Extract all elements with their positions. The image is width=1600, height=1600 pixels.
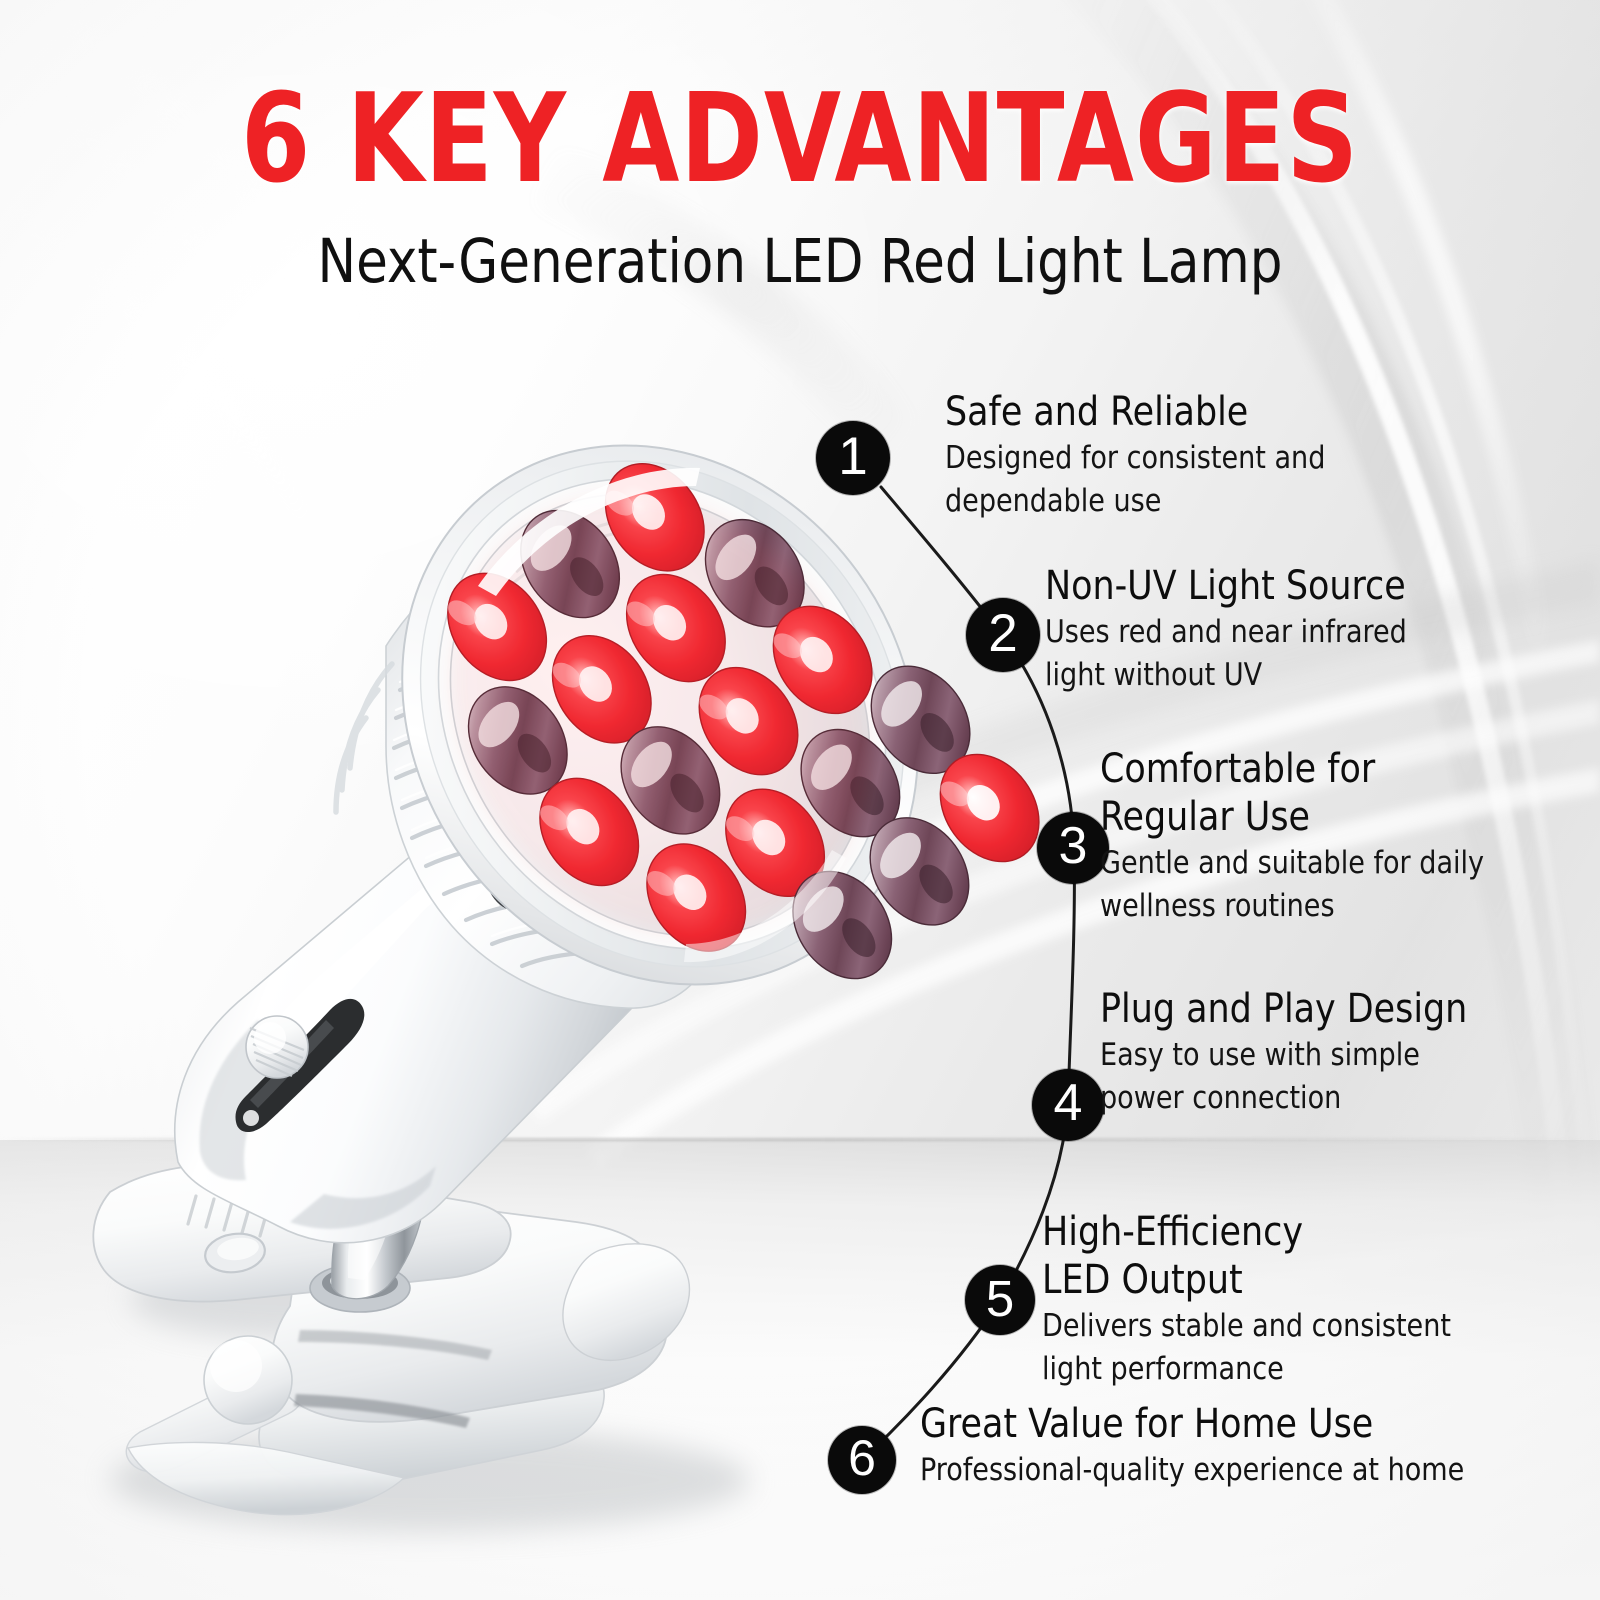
feature-2-heading: Non-UV Light Source [1045, 562, 1407, 610]
page-title: 6 KEY ADVANTAGES [80, 78, 1520, 201]
feature-item-6: Great Value for Home Use Professional-qu… [920, 1400, 1481, 1492]
feature-1-heading: Safe and Reliable [945, 388, 1325, 436]
feature-item-5: High-Efficiency LED Output Delivers stab… [1042, 1208, 1464, 1391]
badge-3[interactable]: 3 [1037, 812, 1109, 884]
feature-4-heading: Plug and Play Design [1100, 985, 1467, 1033]
feature-3-heading: Comfortable for Regular Use [1100, 745, 1484, 841]
infographic-canvas: 6 KEY ADVANTAGES Next-Generation LED Red… [0, 0, 1600, 1600]
badge-3-number: 3 [1059, 816, 1088, 876]
feature-item-2: Non-UV Light Source Uses red and near in… [1045, 562, 1418, 697]
badge-5-number: 5 [986, 1269, 1014, 1328]
badge-1-number: 1 [838, 426, 867, 487]
badge-1[interactable]: 1 [816, 421, 890, 495]
feature-6-description: Professional-quality experience at home [920, 1449, 1464, 1492]
badge-4[interactable]: 4 [1032, 1069, 1104, 1141]
feature-item-3: Comfortable for Regular Use Gentle and s… [1100, 745, 1496, 928]
feature-item-1: Safe and Reliable Designed for consisten… [945, 388, 1337, 523]
tilt-thumbscrew [246, 1016, 308, 1078]
badge-6[interactable]: 6 [828, 1426, 896, 1494]
page-subtitle: Next-Generation LED Red Light Lamp [48, 231, 1552, 292]
badge-2[interactable]: 2 [966, 598, 1040, 672]
feature-1-description: Designed for consistent and dependable u… [945, 437, 1325, 523]
feature-5-heading: High-Efficiency LED Output [1042, 1208, 1451, 1304]
feature-item-4: Plug and Play Design Easy to use with si… [1100, 985, 1479, 1120]
feature-5-description: Delivers stable and consistent light per… [1042, 1305, 1451, 1391]
feature-2-description: Uses red and near infrared light without… [1045, 611, 1407, 697]
feature-3-description: Gentle and suitable for daily wellness r… [1100, 842, 1484, 928]
badge-5[interactable]: 5 [965, 1265, 1035, 1335]
badge-4-number: 4 [1054, 1073, 1083, 1133]
badge-2-number: 2 [988, 603, 1017, 664]
feature-4-description: Easy to use with simple power connection [1100, 1034, 1467, 1120]
feature-6-heading: Great Value for Home Use [920, 1400, 1464, 1448]
badge-6-number: 6 [848, 1429, 876, 1487]
